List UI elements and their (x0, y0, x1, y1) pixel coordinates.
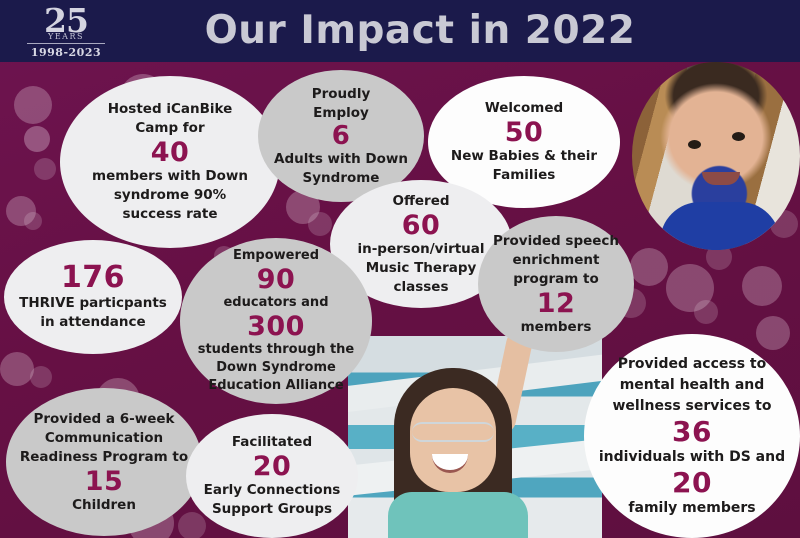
stat-text-line: individuals with DS and (599, 447, 785, 468)
stat-text-line: students through the (198, 341, 355, 359)
stat-text-line: success rate (123, 205, 218, 224)
logo-years-label: YEARS (16, 32, 116, 41)
stat-text-line: educators and (223, 294, 328, 312)
stat-bubble-early-connections: Facilitated20Early ConnectionsSupport Gr… (186, 414, 358, 538)
impact-infographic: 25 YEARS 1998-2023 Our Impact in 2022 Ho… (0, 0, 800, 538)
stat-text-line: in attendance (40, 313, 145, 332)
stat-bubble-speech: Provided speechenrichmentprogram to12mem… (478, 216, 634, 352)
stat-text-line: Empowered (233, 247, 319, 265)
stat-number: 20 (253, 452, 292, 481)
stat-number: 50 (505, 118, 544, 147)
stat-bubble-icanbike: Hosted iCanBikeCamp for40members with Do… (60, 76, 280, 248)
stat-number: 40 (151, 138, 190, 167)
baby-eye-left-detail (688, 140, 701, 149)
stat-text-line: mental health and (620, 375, 765, 396)
stat-text-line: THRIVE particpants (19, 294, 167, 313)
stat-text-line: Education Alliance (208, 377, 343, 395)
stat-text-line: Camp for (135, 119, 204, 138)
stat-text-line: Readiness Program to (20, 448, 188, 467)
stat-text-line: syndrome 90% (114, 186, 226, 205)
logo-divider (27, 43, 105, 44)
stat-text-line: members (521, 318, 592, 337)
stat-text-line: enrichment (513, 251, 600, 270)
stat-text-line: Hosted iCanBike (108, 100, 233, 119)
stat-number: 12 (537, 289, 576, 318)
header-bar: 25 YEARS 1998-2023 Our Impact in 2022 (0, 0, 800, 62)
stat-text-line: Music Therapy (366, 259, 477, 278)
stat-number: 6 (332, 123, 351, 150)
stat-text-line: Support Groups (212, 500, 332, 519)
baby-eye-right-detail (732, 132, 745, 141)
stat-text-line: Facilitated (232, 433, 312, 452)
stat-text-line: Provided a 6-week (33, 410, 174, 429)
girl-shirt-detail (388, 492, 528, 538)
stat-text-line: Families (493, 166, 556, 185)
stat-text-line: Communication (45, 429, 163, 448)
baby-shirt-detail (660, 202, 780, 250)
page-title: Our Impact in 2022 (120, 8, 720, 54)
logo-year-span: 1998-2023 (16, 46, 116, 59)
stat-text-line: Proudly (312, 85, 371, 104)
stat-number: 36 (672, 417, 712, 447)
stat-text-line: Welcomed (485, 99, 563, 118)
stat-text-line: Adults with Down (274, 150, 408, 169)
stat-text-line: Provided access to (618, 354, 767, 375)
stat-text-line: classes (393, 278, 448, 297)
stat-text-line: members with Down (92, 167, 248, 186)
stat-text-line: family members (628, 498, 755, 519)
stat-text-line: Early Connections (204, 481, 341, 500)
stat-text-line: in-person/virtual (357, 240, 484, 259)
girl-at-pool-photo (348, 336, 602, 538)
glasses-icon (412, 422, 494, 442)
stat-bubble-thrive: 176THRIVE particpantsin attendance (4, 240, 182, 354)
stat-number: 176 (61, 262, 125, 294)
stat-number: 15 (85, 467, 124, 496)
stat-text-line: wellness services to (613, 396, 772, 417)
anniversary-logo: 25 YEARS 1998-2023 (16, 4, 116, 59)
stat-text-line: Provided speech (493, 232, 619, 251)
stat-text-line: Down Syndrome (216, 359, 336, 377)
stat-text-line: Syndrome (303, 169, 380, 188)
stat-text-line: Offered (392, 192, 449, 211)
stat-number: 20 (672, 468, 712, 498)
stat-text-line: New Babies & their (451, 147, 597, 166)
smiling-baby-photo (632, 62, 800, 250)
stat-number: 60 (402, 211, 441, 240)
stat-bubble-mental-health: Provided access tomental health andwelln… (584, 334, 800, 538)
stat-text-line: program to (513, 270, 599, 289)
stat-number: 90 (257, 265, 296, 294)
stat-bubble-education: Empowered90educators and300students thro… (180, 238, 372, 404)
stat-text-line: Children (72, 496, 136, 515)
stat-bubble-communication: Provided a 6-weekCommunicationReadiness … (6, 388, 202, 536)
stat-number: 300 (247, 312, 305, 341)
baby-smile-detail (702, 172, 740, 185)
stat-text-line: Employ (313, 104, 369, 123)
